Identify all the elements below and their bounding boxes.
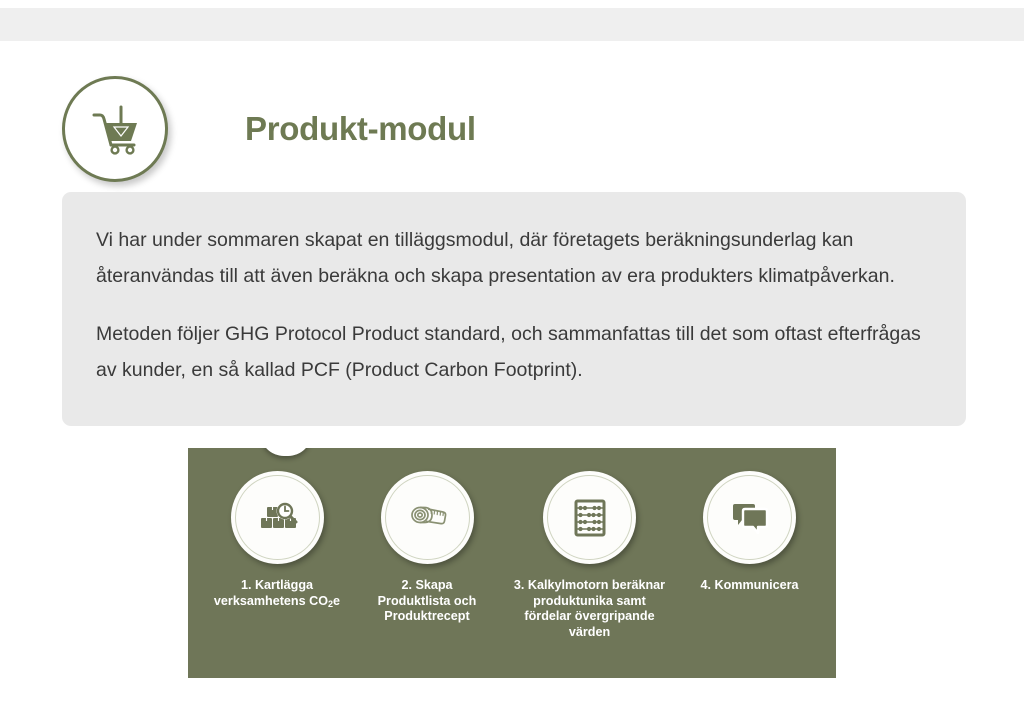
- abacus-icon: [543, 471, 636, 564]
- process-steps: 1. Kartläggaverksamhetens CO2e: [188, 448, 836, 678]
- boxes-magnifier-icon: [231, 471, 324, 564]
- process-panel: 1. Kartläggaverksamhetens CO2e: [188, 448, 836, 678]
- process-step-4: 4. Kommunicera: [677, 471, 822, 594]
- page-title: Produkt-modul: [245, 110, 476, 148]
- process-step-3: 3. Kalkylmotorn beräknarproduktunika sam…: [502, 471, 677, 640]
- speech-bubbles-icon: [703, 471, 796, 564]
- page-header: Produkt-modul: [62, 74, 972, 184]
- process-step-2: 2. SkapaProduktlista ochProduktrecept: [352, 471, 502, 625]
- measuring-tape-icon: [381, 471, 474, 564]
- description-card: Vi har under sommaren skapat en tilläggs…: [62, 192, 966, 426]
- process-step-1-label: 1. Kartläggaverksamhetens CO2e: [202, 578, 352, 610]
- page-content: Produkt-modul Vi har under sommaren skap…: [0, 41, 1024, 727]
- process-step-2-label: 2. SkapaProduktlista ochProduktrecept: [352, 578, 502, 625]
- shopping-cart-download-icon: [62, 76, 168, 182]
- process-step-1: 1. Kartläggaverksamhetens CO2e: [202, 471, 352, 610]
- description-paragraph-1: Vi har under sommaren skapat en tilläggs…: [96, 222, 932, 294]
- description-paragraph-2: Metoden följer GHG Protocol Product stan…: [96, 316, 932, 388]
- process-step-3-label: 3. Kalkylmotorn beräknarproduktunika sam…: [502, 578, 677, 640]
- browser-top-strip: [0, 8, 1024, 41]
- process-step-4-label: 4. Kommunicera: [680, 578, 820, 594]
